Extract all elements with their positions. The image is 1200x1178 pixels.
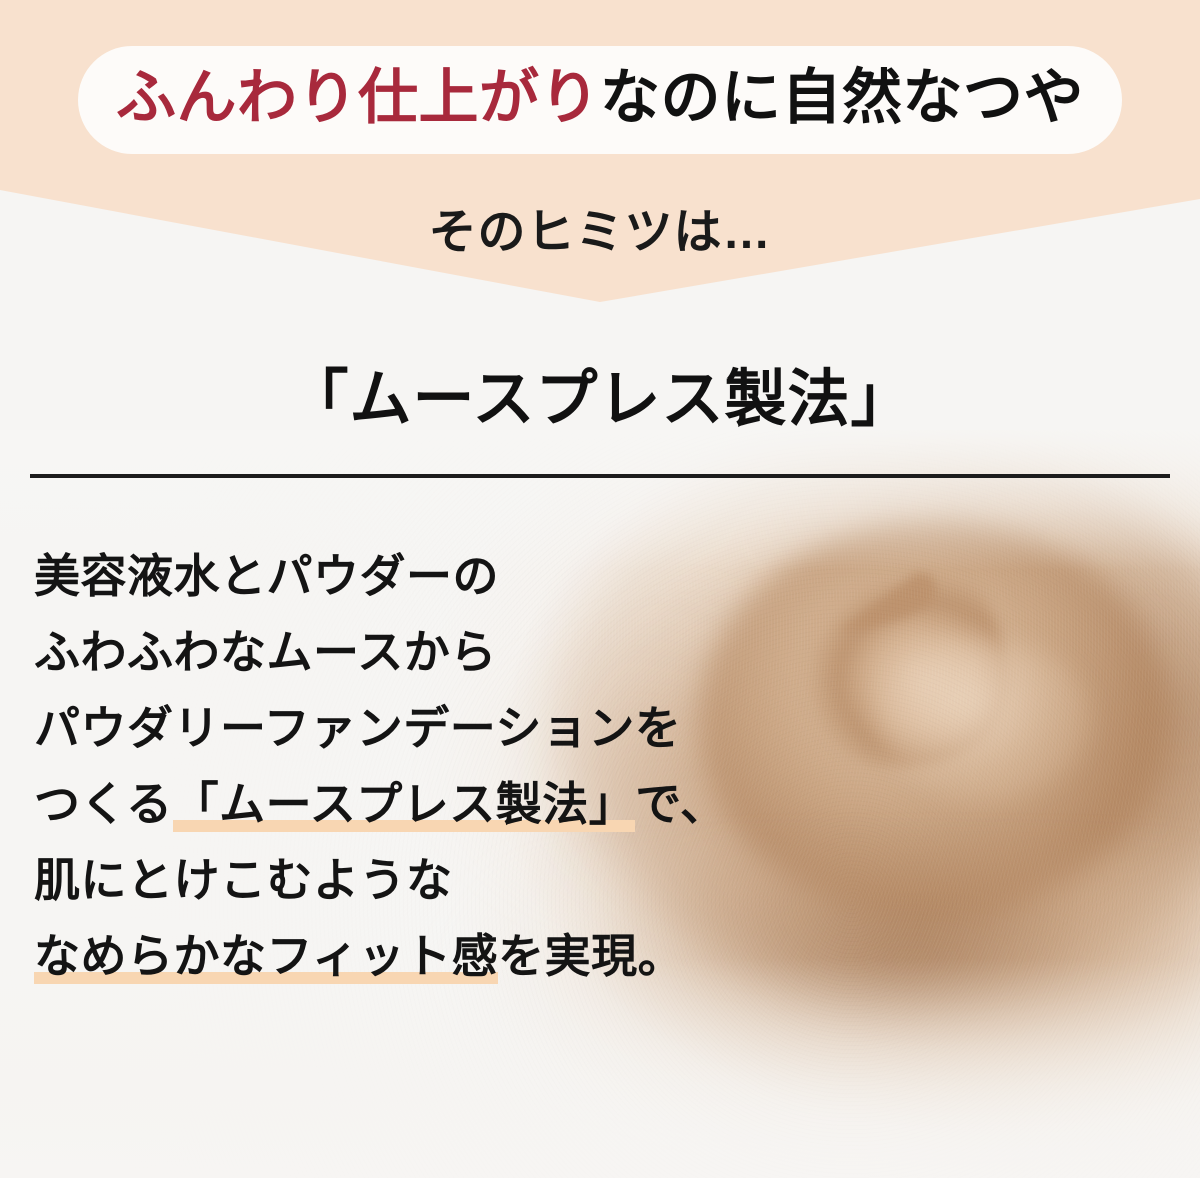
heading-divider-rule (30, 474, 1170, 478)
sub-headline: そのヒミツは… (0, 192, 1200, 262)
body-line: パウダリーファンデーションを (34, 690, 1034, 766)
highlight-marker: なめらかなフィット感 (34, 930, 498, 984)
headline-pill: ふんわり仕上がりなのに自然なつや (78, 46, 1122, 154)
body-line: 肌にとけこむような (34, 842, 1034, 918)
body-line-prefix: つくる (34, 778, 173, 830)
headline-accent-text: ふんわり仕上がり (116, 64, 600, 131)
body-line-text: ふわふわなムースから (34, 626, 497, 678)
body-line: 美容液水とパウダーの (34, 538, 1034, 614)
body-line-text: 肌にとけこむような (34, 854, 453, 906)
body-line-text: パウダリーファンデーションを (34, 702, 681, 754)
body-copy-block: 美容液水とパウダーの ふわふわなムースから パウダリーファンデーションを つくる… (34, 538, 1034, 994)
highlight-marker: 「ムースプレス製法」 (173, 778, 636, 832)
body-line-suffix: で、 (635, 778, 726, 830)
headline-text: ふんわり仕上がりなのに自然なつや (116, 68, 1084, 128)
body-line-highlighted: つくる「ムースプレス製法」で、 (34, 766, 1034, 842)
method-heading: 「ムースプレス製法」 (0, 348, 1200, 438)
body-line: ふわふわなムースから (34, 614, 1034, 690)
body-line-highlighted: なめらかなフィット感を実現。 (34, 918, 1034, 994)
body-line-text: 美容液水とパウダーの (34, 550, 499, 602)
body-line-suffix: を実現。 (498, 930, 684, 982)
infographic-page: ふんわり仕上がりなのに自然なつや そのヒミツは… 「ムースプレス製法」 美容液水… (0, 0, 1200, 1178)
headline-rest-text: なのに自然なつや (600, 64, 1084, 131)
